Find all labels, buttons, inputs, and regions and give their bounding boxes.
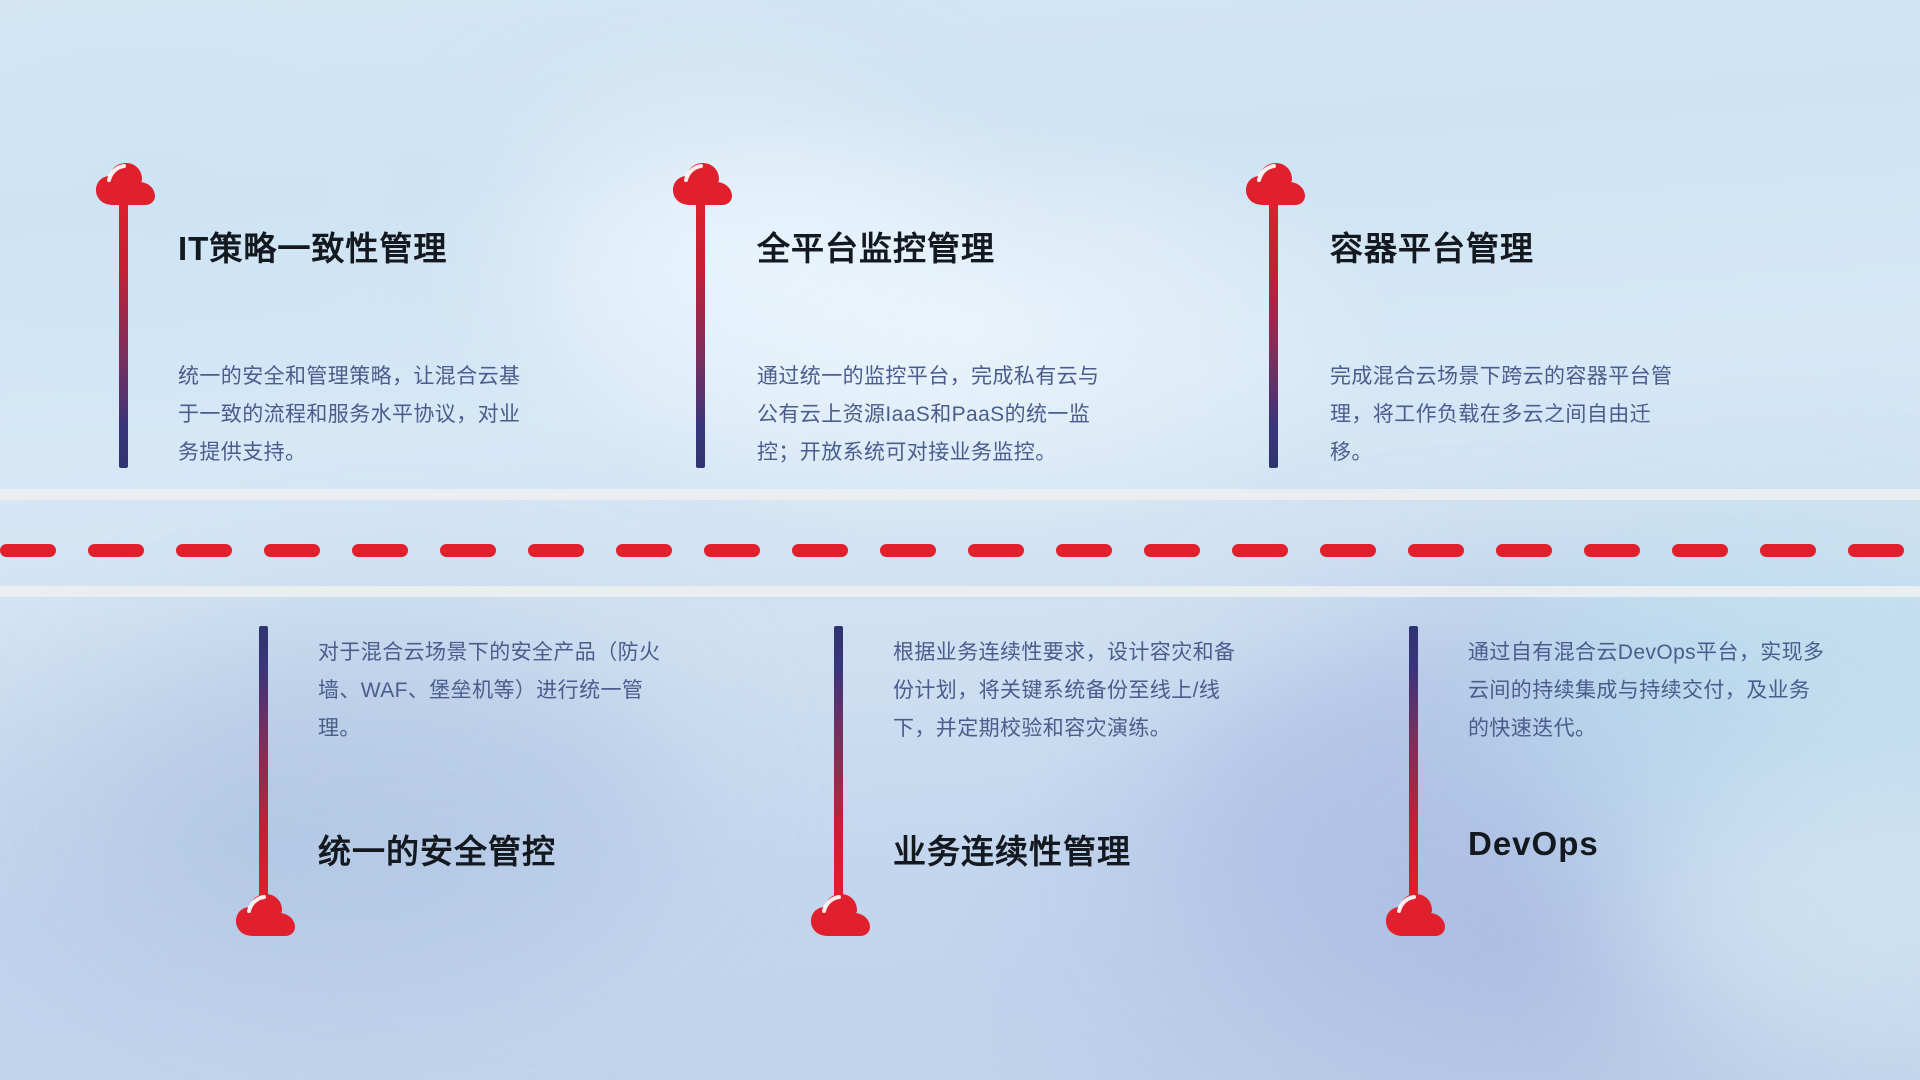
connector-stem [696, 200, 705, 468]
top-card-body-2: 通过统一的监控平台，完成私有云与公有云上资源IaaS和PaaS的统一监控；开放系… [757, 358, 1117, 472]
divider-dash [0, 544, 56, 557]
divider-dash [1232, 544, 1288, 557]
cloud-icon [1385, 893, 1447, 937]
divider-dash [704, 544, 760, 557]
divider-dash [1848, 544, 1904, 557]
divider-dash [1056, 544, 1112, 557]
divider-dash [440, 544, 496, 557]
divider-dash [528, 544, 584, 557]
bottom-card-title-3: DevOps [1468, 825, 1599, 863]
divider-dash [616, 544, 672, 557]
infographic-canvas: IT策略一致性管理 统一的安全和管理策略，让混合云基于一致的流程和服务水平协议，… [0, 0, 1920, 1080]
divider-rule-top [0, 489, 1920, 500]
connector-stem [834, 626, 843, 898]
divider-rule-bottom [0, 586, 1920, 597]
top-card-title-3: 容器平台管理 [1330, 222, 1534, 270]
connector-stem [1269, 200, 1278, 468]
divider-dash [1496, 544, 1552, 557]
connector-stem [259, 626, 268, 898]
connector-stem [1409, 626, 1418, 898]
top-card-title-2: 全平台监控管理 [757, 222, 995, 270]
divider-dash [1144, 544, 1200, 557]
bottom-card-title-2: 业务连续性管理 [893, 825, 1131, 873]
dashed-divider [0, 543, 1920, 557]
divider-dash [264, 544, 320, 557]
bottom-card-body-2: 根据业务连续性要求，设计容灾和备份计划，将关键系统备份至线上/线下，并定期校验和… [893, 634, 1253, 748]
divider-dash [352, 544, 408, 557]
divider-dash [1408, 544, 1464, 557]
top-card-body-1: 统一的安全和管理策略，让混合云基于一致的流程和服务水平协议，对业务提供支持。 [178, 358, 538, 472]
divider-dash [1584, 544, 1640, 557]
divider-dash [176, 544, 232, 557]
cloud-icon [810, 893, 872, 937]
divider-dash [1760, 544, 1816, 557]
divider-dash [792, 544, 848, 557]
top-card-title-1: IT策略一致性管理 [178, 222, 447, 270]
divider-dash [1320, 544, 1376, 557]
top-card-body-3: 完成混合云场景下跨云的容器平台管理，将工作负载在多云之间自由迁移。 [1330, 358, 1690, 472]
connector-stem [119, 200, 128, 468]
divider-dash [968, 544, 1024, 557]
bottom-card-body-3: 通过自有混合云DevOps平台，实现多云间的持续集成与持续交付，及业务的快速迭代… [1468, 634, 1828, 748]
divider-dash [88, 544, 144, 557]
bottom-card-title-1: 统一的安全管控 [318, 825, 556, 873]
background-blob [1620, 760, 1920, 1060]
divider-dash [880, 544, 936, 557]
cloud-icon [235, 893, 297, 937]
divider-dash [1672, 544, 1728, 557]
bottom-card-body-1: 对于混合云场景下的安全产品（防火墙、WAF、堡垒机等）进行统一管理。 [318, 634, 678, 748]
